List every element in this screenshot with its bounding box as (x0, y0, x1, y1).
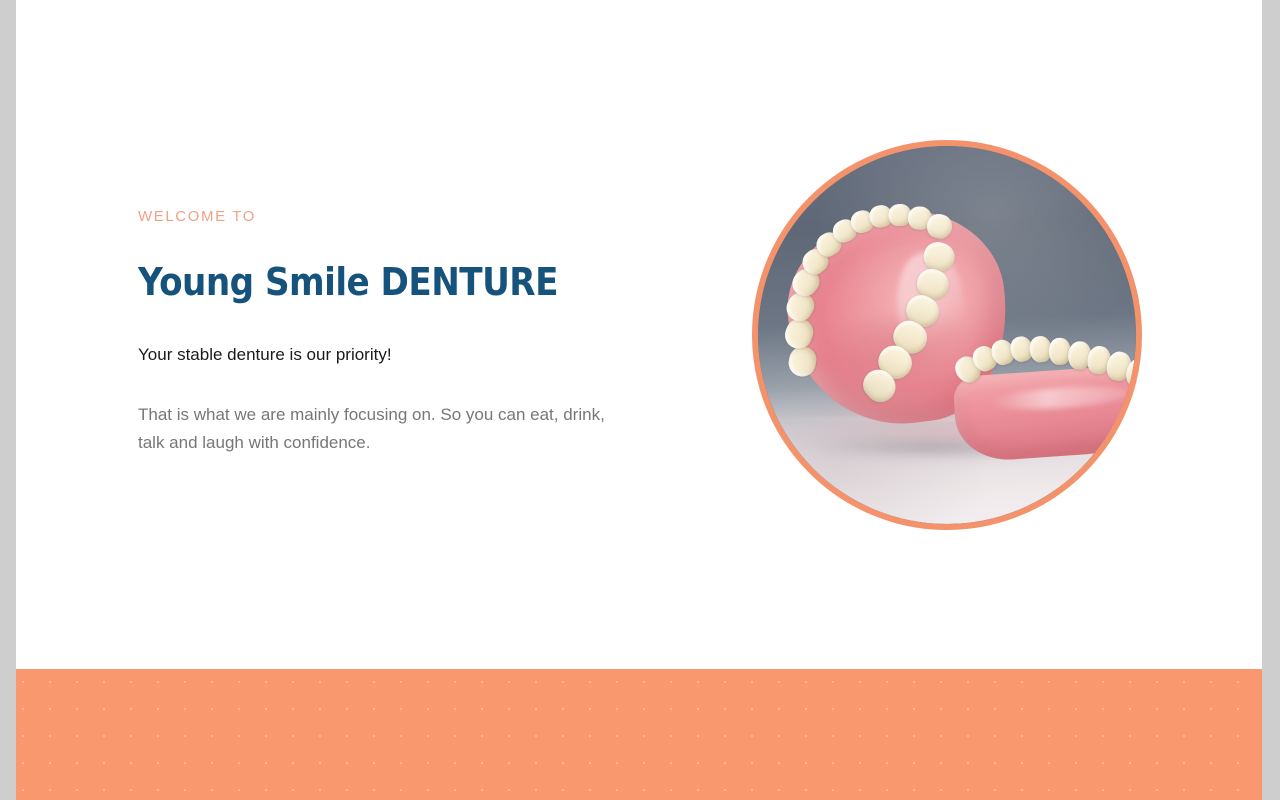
hero-lead-text: Your stable denture is our priority! (138, 342, 618, 368)
hero-eyebrow: WELCOME TO (138, 206, 618, 227)
photo-vignette (758, 146, 1136, 524)
hero-body-text: That is what we are mainly focusing on. … (138, 401, 608, 456)
page-title: Young Smile DENTURE (138, 261, 570, 305)
section-number-band: 01 (16, 669, 1262, 800)
hero-text-block: WELCOME TO Young Smile DENTURE Your stab… (138, 206, 618, 456)
denture-photo (758, 146, 1136, 524)
denture-photo-frame (752, 140, 1142, 530)
slide-page: WELCOME TO Young Smile DENTURE Your stab… (16, 0, 1262, 800)
hero-section: WELCOME TO Young Smile DENTURE Your stab… (16, 0, 1262, 669)
